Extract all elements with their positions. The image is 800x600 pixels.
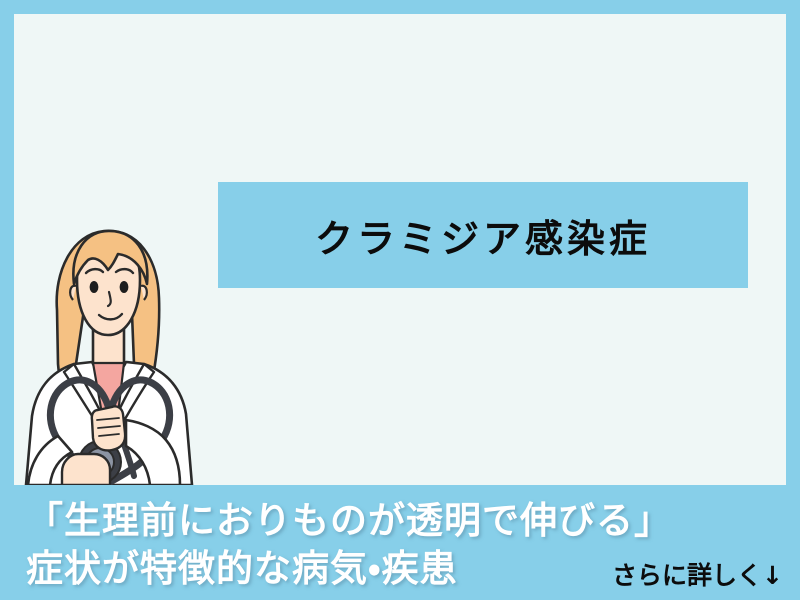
female-doctor-illustration — [14, 214, 224, 485]
caption-line-1: 「生理前におりものが透明で伸びる」 — [26, 490, 672, 544]
hand-lower — [62, 454, 110, 485]
promo-card: クラミジア感染症 「生理前におりものが透明で伸びる」 症状が特徴的な病気・疾患 … — [0, 0, 800, 600]
doctor-svg — [14, 214, 224, 485]
page-title: クラミジア感染症 — [315, 208, 651, 263]
title-plate: クラミジア感染症 — [218, 182, 748, 288]
hand-upper — [92, 406, 125, 450]
eye-left — [90, 281, 99, 293]
caption-line-2: 症状が特徴的な病気・疾患 — [26, 538, 458, 592]
read-more-link[interactable]: さらに詳しく↓ — [612, 556, 783, 592]
eye-right — [120, 281, 129, 293]
